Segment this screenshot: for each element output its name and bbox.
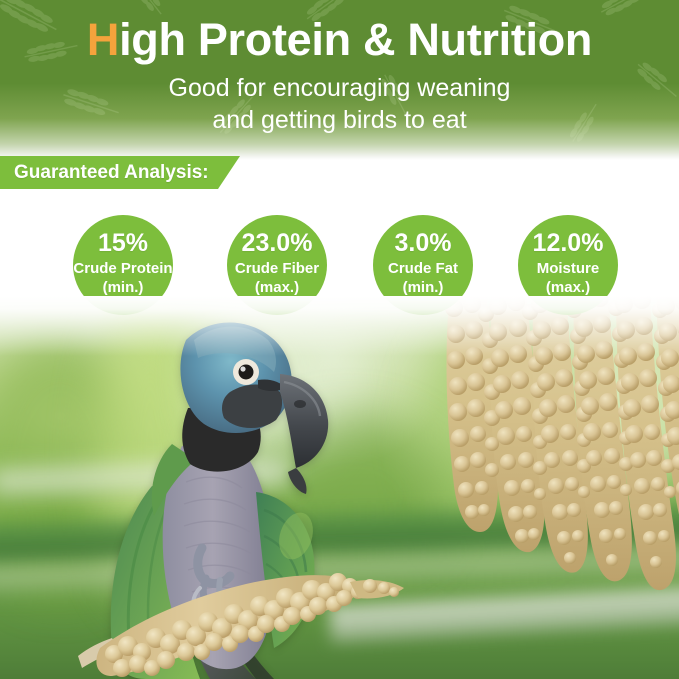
subtitle-line-1: Good for encouraging weaning: [0, 72, 679, 104]
analysis-qualifier: (min.): [351, 278, 495, 297]
product-photo: [0, 296, 679, 679]
header-banner: High Protein & Nutrition Good for encour…: [0, 0, 679, 160]
analysis-label: Crude Fiber: [205, 259, 349, 278]
analysis-value: 3.0%: [357, 229, 489, 258]
photo-inner: [0, 296, 679, 679]
analysis-label: Moisture: [496, 259, 640, 278]
product-infographic: High Protein & Nutrition Good for encour…: [0, 0, 679, 679]
analysis-value: 12.0%: [502, 229, 634, 258]
analysis-value: 23.0%: [211, 229, 343, 258]
analysis-circle-crude-fat: 3.0% Crude Fat (min.): [373, 215, 473, 315]
title-highlight-letter: H: [87, 14, 119, 65]
guaranteed-analysis-banner: Guaranteed Analysis:: [0, 156, 240, 189]
analysis-circle-crude-protein: 15% Crude Protein (min.): [73, 215, 173, 315]
page-subtitle: Good for encouraging weaning and getting…: [0, 72, 679, 136]
analysis-qualifier: (min.): [51, 278, 195, 297]
subtitle-line-2: and getting birds to eat: [0, 104, 679, 136]
analysis-qualifier: (max.): [205, 278, 349, 297]
analysis-circle-crude-fiber: 23.0% Crude Fiber (max.): [227, 215, 327, 315]
title-rest: igh Protein & Nutrition: [119, 14, 592, 65]
analysis-label: Crude Fat: [351, 259, 495, 278]
guaranteed-analysis-label: Guaranteed Analysis:: [14, 162, 209, 184]
analysis-qualifier: (max.): [496, 278, 640, 297]
guaranteed-analysis-values: 15% Crude Protein (min.) 23.0% Crude Fib…: [0, 215, 679, 325]
analysis-circle-moisture: 12.0% Moisture (max.): [518, 215, 618, 315]
analysis-label: Crude Protein: [51, 259, 195, 278]
millet-spray-perch: [78, 536, 408, 679]
analysis-value: 15%: [57, 229, 189, 258]
hanging-millet-sprays: [440, 296, 679, 620]
page-title: High Protein & Nutrition: [0, 12, 679, 68]
